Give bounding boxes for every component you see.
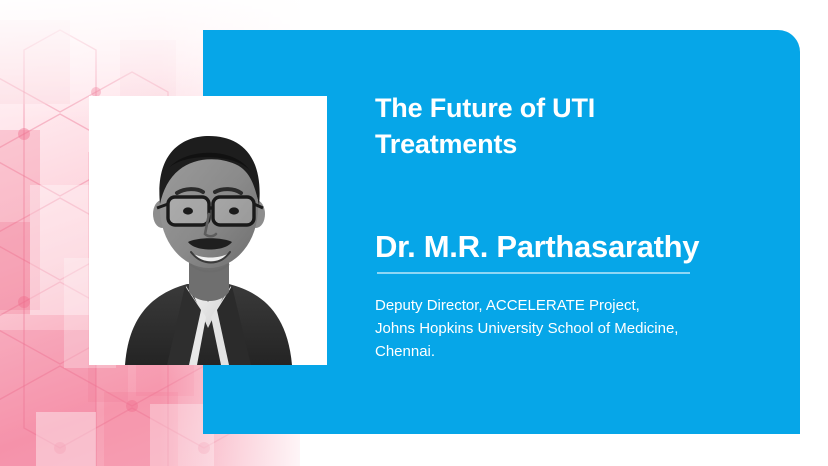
slide-title-line-2: Treatments bbox=[375, 126, 775, 162]
credentials-line-2: Johns Hopkins University School of Medic… bbox=[375, 317, 795, 340]
slide-title: The Future of UTI Treatments bbox=[375, 90, 775, 162]
presentation-slide: The Future of UTI Treatments Dr. M.R. Pa… bbox=[0, 0, 828, 466]
slide-title-line-1: The Future of UTI bbox=[375, 90, 775, 126]
slide-text-block: The Future of UTI Treatments Dr. M.R. Pa… bbox=[375, 30, 795, 434]
credentials-line-3: Chennai. bbox=[375, 340, 795, 363]
speaker-name: Dr. M.R. Parthasarathy bbox=[375, 228, 795, 266]
speaker-credentials: Deputy Director, ACCELERATE Project, Joh… bbox=[375, 294, 795, 363]
decorative-rectangle bbox=[0, 222, 30, 314]
portrait-illustration bbox=[89, 96, 327, 365]
credentials-line-1: Deputy Director, ACCELERATE Project, bbox=[375, 294, 795, 317]
name-divider bbox=[377, 272, 690, 274]
speaker-portrait-photo bbox=[89, 96, 327, 365]
decorative-rectangle bbox=[36, 412, 96, 466]
